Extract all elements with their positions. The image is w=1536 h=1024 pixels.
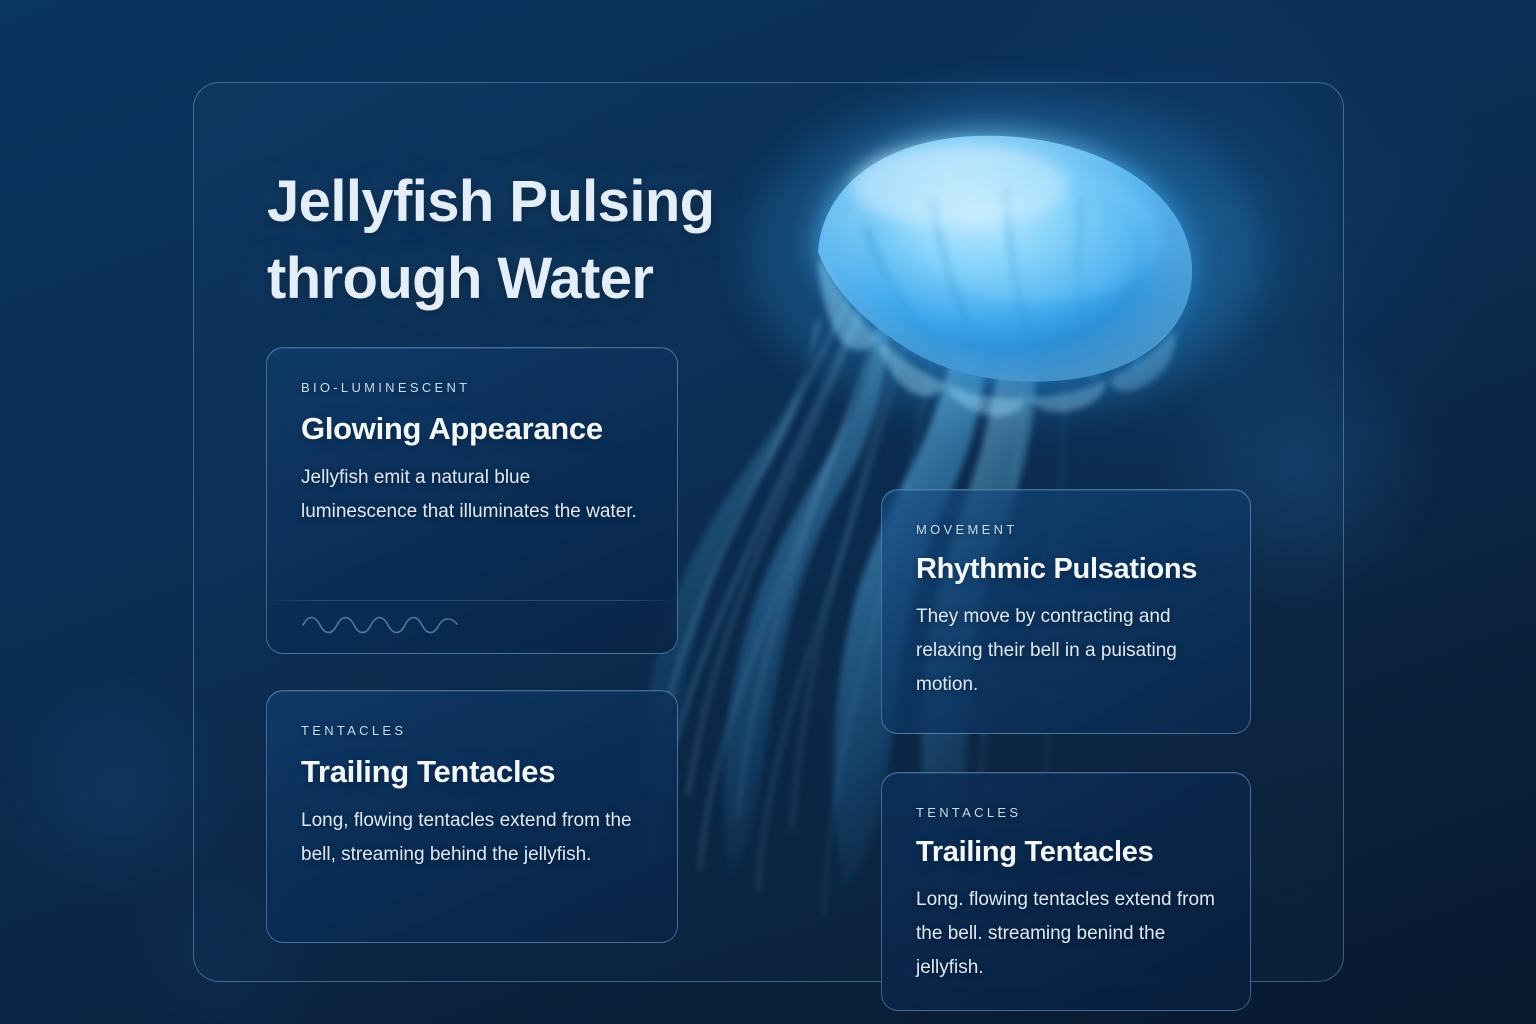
card-body: They move by contracting and relaxing th… xyxy=(916,600,1216,701)
card-body: Long. flowing tentacles extend from the … xyxy=(916,883,1216,984)
wave-line-icon xyxy=(301,611,461,637)
card-eyebrow: MOVEMENT xyxy=(916,522,1216,537)
card-title: Glowing Appearance xyxy=(301,411,643,447)
card-rhythmic-pulsations[interactable]: MOVEMENT Rhythmic Pulsations They move b… xyxy=(881,489,1251,734)
card-divider xyxy=(267,600,677,601)
card-body: Jellyfish emit a natural blue luminescen… xyxy=(301,461,643,529)
card-trailing-tentacles-right[interactable]: TENTACLES Trailing Tentacles Long. flowi… xyxy=(881,772,1251,1011)
card-body: Long, flowing tentacles extend from the … xyxy=(301,804,643,872)
card-eyebrow: BIO-LUMINESCENT xyxy=(301,380,643,395)
card-title: Trailing Tentacles xyxy=(916,836,1216,869)
card-eyebrow: TENTACLES xyxy=(916,805,1216,820)
card-title: Rhythmic Pulsations xyxy=(916,553,1216,586)
card-trailing-tentacles-left[interactable]: TENTACLES Trailing Tentacles Long, flowi… xyxy=(266,690,678,943)
page-title: Jellyfish Pulsing through Water xyxy=(267,163,867,317)
card-eyebrow: TENTACLES xyxy=(301,723,643,738)
card-title: Trailing Tentacles xyxy=(301,754,643,790)
card-glowing-appearance[interactable]: BIO-LUMINESCENT Glowing Appearance Jelly… xyxy=(266,347,678,654)
infographic-stage: Jellyfish Pulsing through Water BIO-LUMI… xyxy=(0,0,1536,1024)
